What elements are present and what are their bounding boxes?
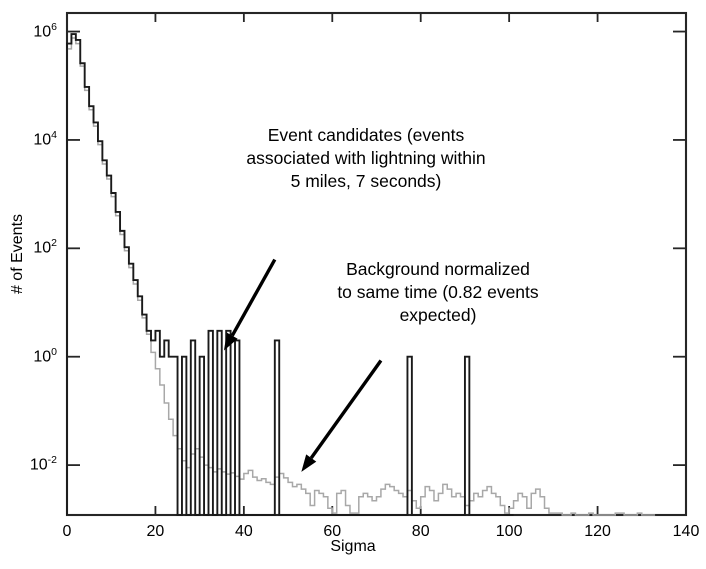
x-tick-label: 120 (568, 523, 628, 541)
x-tick-label: 0 (37, 523, 97, 541)
y-tick-label: 102 (5, 237, 57, 257)
y-tick-label: 100 (5, 346, 57, 366)
annotation-event-candidates: Event candidates (events associated with… (240, 124, 492, 192)
x-tick-label: 140 (656, 523, 706, 541)
x-tick-label: 20 (125, 523, 185, 541)
x-tick-label: 100 (479, 523, 539, 541)
y-tick-label: 10-2 (5, 454, 57, 474)
x-tick-label: 60 (302, 523, 362, 541)
x-tick-label: 80 (391, 523, 451, 541)
figure-root: Event candidates (events associated with… (0, 0, 706, 569)
annotation-background: Background normalized to same time (0.82… (318, 258, 558, 326)
y-tick-label: 104 (5, 129, 57, 149)
x-tick-label: 40 (214, 523, 274, 541)
y-tick-label: 106 (5, 21, 57, 41)
